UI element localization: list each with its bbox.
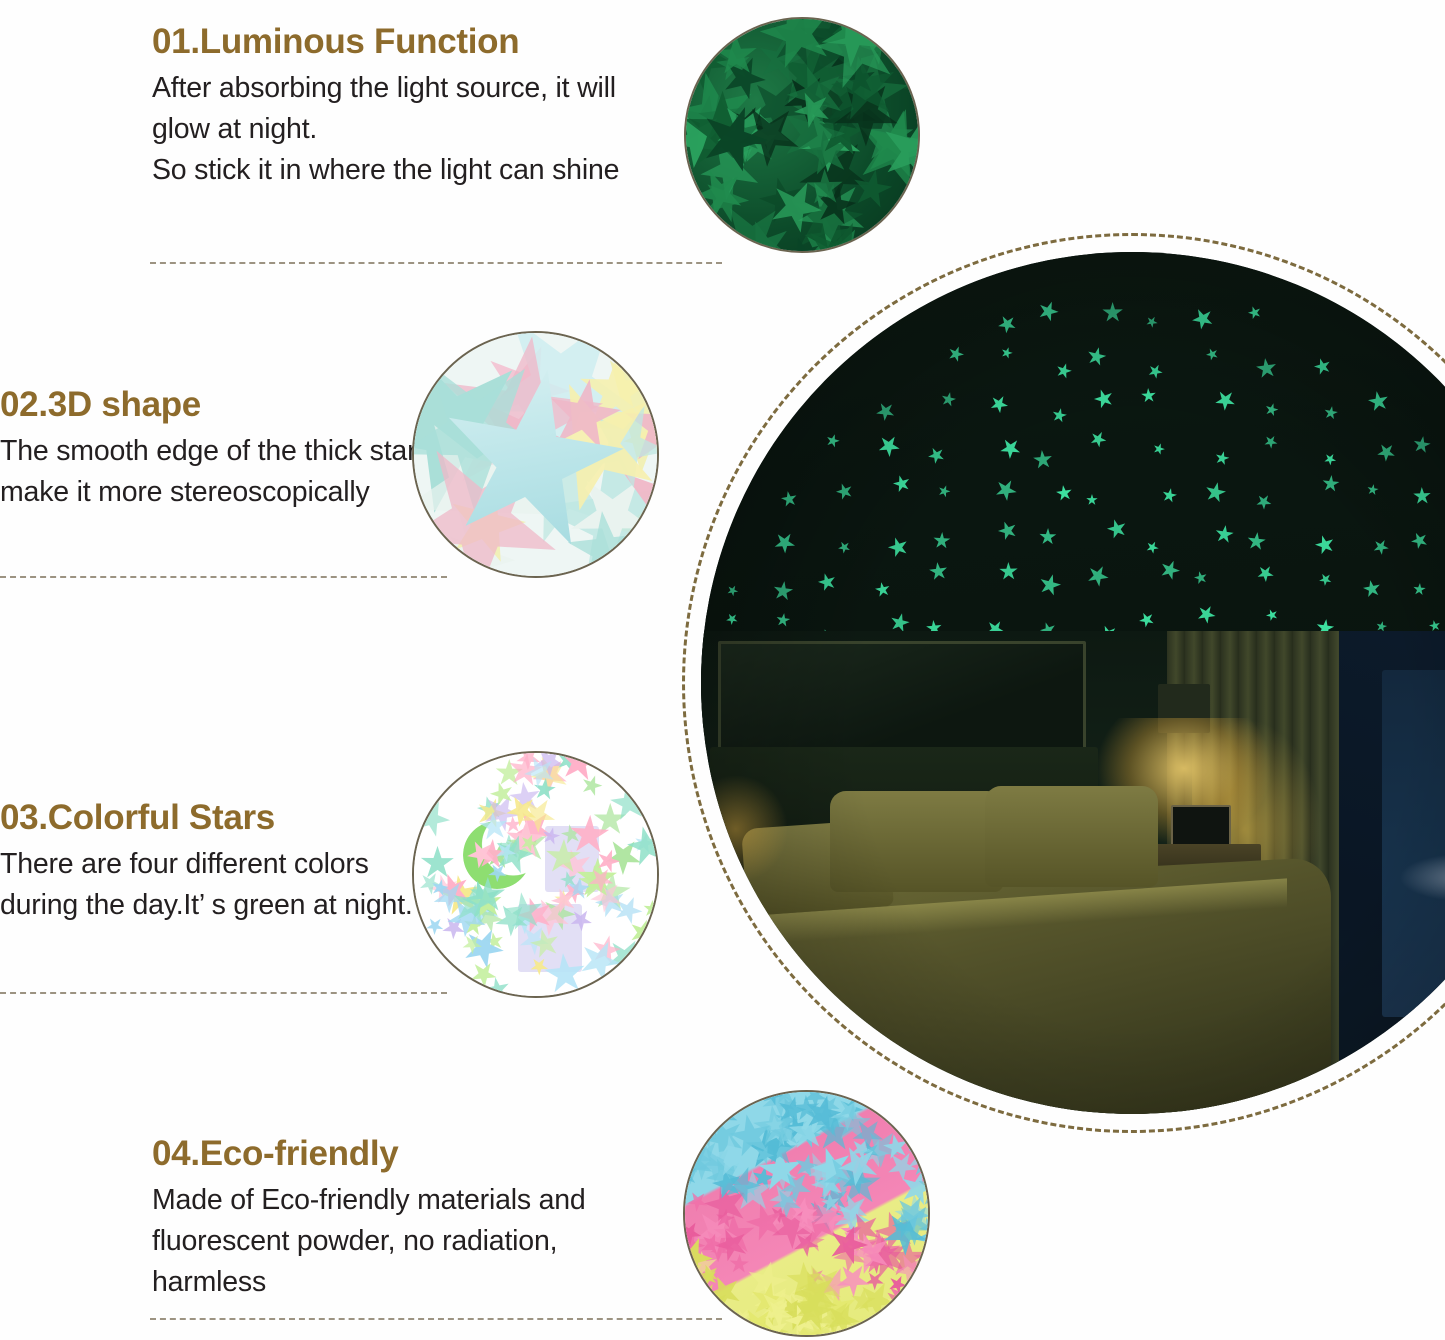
glow-star	[1032, 449, 1053, 470]
glow-star	[874, 581, 892, 599]
pastel-star-piece	[412, 333, 575, 531]
glow-star	[1193, 570, 1209, 586]
sorted-star-piece	[686, 1190, 709, 1213]
glow-star	[996, 434, 1025, 463]
sorted-star-piece	[849, 1286, 877, 1314]
sorted-star-piece	[768, 1203, 790, 1225]
colorful-star-piece	[468, 897, 510, 939]
colorful-star-piece	[608, 782, 651, 825]
crescent-moon-shape	[463, 821, 531, 889]
glowing-green-stars-photo	[686, 19, 918, 251]
pastel-star-piece	[489, 412, 636, 559]
sorted-star-piece	[814, 1146, 874, 1206]
colorful-star-piece	[531, 756, 569, 794]
glow-star	[1408, 529, 1431, 552]
colorful-star-piece	[508, 804, 558, 854]
colorful-star-piece	[589, 871, 632, 914]
colorful-star-piece	[459, 931, 485, 957]
glow-star	[1264, 607, 1280, 623]
colorful-star-piece	[501, 890, 546, 935]
colorful-star-piece	[462, 835, 501, 874]
colorful-star-piece	[425, 871, 461, 907]
sorted-star-piece	[837, 1223, 871, 1257]
colorful-star-piece	[506, 751, 544, 789]
glow-star	[1145, 361, 1165, 381]
sorted-star-piece	[708, 1165, 748, 1205]
glow-star	[1246, 304, 1263, 321]
hero-image-circle	[682, 233, 1445, 1133]
colorful-star-piece	[500, 837, 526, 863]
sorted-star-piece	[790, 1255, 853, 1318]
glow-star-piece	[729, 95, 810, 176]
sorted-star-piece	[805, 1264, 828, 1287]
pastel-star-piece	[563, 475, 659, 578]
glow-star	[1253, 491, 1275, 513]
colorful-star-piece	[588, 866, 614, 892]
glow-star-piece	[824, 71, 907, 154]
glow-star	[1085, 345, 1108, 368]
glow-star	[1246, 531, 1267, 552]
glow-star-piece	[791, 60, 892, 161]
sorted-star-piece	[817, 1181, 852, 1216]
sorted-star-piece	[806, 1161, 831, 1186]
glow-star	[1136, 610, 1157, 631]
sorted-star-piece	[856, 1135, 893, 1172]
sorted-star-piece	[780, 1333, 805, 1337]
colorful-star-piece	[542, 951, 588, 997]
glow-star-piece	[713, 47, 775, 109]
sorted-star-piece	[722, 1166, 761, 1205]
sorted-star-piece	[811, 1164, 850, 1203]
glow-star-piece	[684, 105, 731, 173]
glow-star	[1188, 304, 1217, 333]
glow-star	[1316, 570, 1334, 588]
colorful-star-piece	[556, 751, 601, 784]
glow-star	[873, 431, 903, 461]
colorful-star-piece	[562, 872, 595, 905]
glow-star-piece	[764, 17, 830, 73]
sorted-star-piece	[885, 1185, 930, 1248]
colorful-star-piece	[568, 850, 627, 909]
glow-star	[1255, 356, 1278, 379]
colorful-star-piece	[519, 751, 561, 793]
glow-star-piece	[801, 165, 848, 212]
colorful-star-piece	[591, 844, 625, 878]
colorful-stars-and-moon-photo	[414, 753, 657, 996]
doorway	[1382, 670, 1445, 1018]
sorted-star-piece	[802, 1191, 847, 1236]
sorted-star-piece	[788, 1201, 826, 1239]
glow-star	[1141, 387, 1157, 403]
sorted-star-piece	[833, 1188, 874, 1229]
colorful-star-piece	[511, 751, 546, 775]
sorted-star-piece	[830, 1196, 873, 1239]
glow-star	[770, 528, 800, 558]
glow-star-piece	[840, 59, 880, 99]
infographic-canvas: 01.Luminous Function After absorbing the…	[0, 0, 1445, 1340]
colorful-star-piece	[480, 791, 524, 835]
sorted-star-piece	[859, 1140, 881, 1162]
colorful-star-piece	[500, 813, 525, 838]
glow-star	[925, 444, 948, 467]
glow-star	[1361, 579, 1382, 600]
colorful-star-piece	[432, 867, 488, 923]
colorful-star-piece	[535, 890, 583, 938]
glow-star-piece	[849, 166, 896, 213]
sorted-star-piece	[779, 1255, 829, 1305]
feature-block-04: 04.Eco-friendly Made of Eco-friendly mat…	[152, 1134, 672, 1303]
colorful-star-piece	[462, 870, 514, 922]
feature-image-03	[412, 751, 659, 998]
colorful-star-piece	[540, 826, 562, 848]
sorted-star-piece	[836, 1262, 871, 1297]
sorted-star-piece	[712, 1205, 739, 1232]
colorful-star-piece	[466, 957, 501, 992]
sorted-star-piece	[752, 1282, 804, 1334]
colorful-star-piece	[526, 751, 571, 783]
glow-star	[940, 390, 958, 408]
glow-star	[1088, 428, 1110, 450]
glow-star	[1091, 387, 1116, 412]
glow-star	[890, 473, 911, 494]
glow-star	[1051, 407, 1069, 425]
glow-star-piece	[777, 68, 836, 127]
sorted-star-piece	[733, 1300, 783, 1337]
glow-star-piece	[684, 91, 737, 152]
glow-star-piece	[787, 84, 840, 137]
sorted-star-piece	[768, 1185, 804, 1221]
sorted-star-piece	[887, 1206, 924, 1243]
sorted-star-piece	[781, 1299, 824, 1337]
sorted-star-piece	[888, 1197, 930, 1250]
sorted-star-piece	[766, 1181, 800, 1215]
glow-star	[1214, 524, 1235, 545]
glow-star	[999, 562, 1018, 581]
sorted-star-piece	[708, 1238, 731, 1261]
glow-star-piece	[684, 81, 773, 182]
colorful-star-piece	[449, 882, 495, 928]
colorful-star-piece	[491, 829, 528, 866]
glow-star	[1213, 450, 1230, 467]
colorful-star-piece	[529, 896, 572, 939]
glow-star-piece	[741, 71, 814, 144]
glow-star-piece	[690, 96, 776, 182]
glow-star	[945, 344, 966, 365]
sorted-star-piece	[803, 1331, 826, 1337]
sorted-star-piece	[791, 1277, 829, 1315]
glow-star	[1312, 356, 1333, 377]
colorful-star-piece	[487, 778, 518, 809]
feature-divider-02	[0, 576, 447, 578]
glow-star	[933, 531, 951, 549]
glow-star	[1105, 516, 1130, 541]
colorful-star-piece	[524, 751, 576, 801]
colorful-star-piece	[491, 837, 520, 866]
feature-image-01	[684, 17, 920, 253]
sorted-star-piece	[726, 1251, 752, 1277]
sorted-star-piece	[727, 1155, 744, 1172]
doorway-light	[1399, 853, 1445, 901]
glow-star-piece	[741, 103, 799, 161]
colorful-star-piece	[481, 928, 508, 955]
glow-star-piece	[790, 128, 880, 218]
glow-star	[885, 534, 911, 560]
colorful-star-piece	[504, 776, 548, 820]
colorful-star-piece	[470, 833, 513, 876]
feature-body-02: The smooth edge of the thick star make i…	[0, 431, 440, 513]
glow-star	[1037, 571, 1064, 598]
sorted-star-piece	[864, 1233, 910, 1279]
sorted-star-piece	[791, 1229, 821, 1259]
glow-star	[1083, 561, 1112, 590]
feature-title-02: 02.3D shape	[0, 385, 440, 425]
feature-body-03: There are four different colors during t…	[0, 844, 450, 926]
glow-star	[1204, 346, 1220, 362]
glow-star	[1203, 480, 1228, 505]
feature-divider-01	[150, 262, 722, 264]
glow-star	[1054, 484, 1073, 503]
feature-title-03: 03.Colorful Stars	[0, 798, 450, 838]
colorful-star-piece	[501, 833, 528, 860]
colorful-star-piece	[517, 897, 553, 933]
sorted-star-piece	[740, 1177, 763, 1200]
colorful-star-piece	[529, 774, 559, 804]
sorted-star-piece	[849, 1136, 874, 1161]
glow-star-piece	[767, 89, 858, 180]
sorted-star-piece	[764, 1211, 784, 1231]
colorful-star-piece	[518, 924, 550, 956]
sorted-star-piece	[911, 1162, 930, 1216]
glow-star	[1367, 483, 1380, 496]
colorful-star-piece	[423, 914, 446, 937]
colorful-star-piece	[546, 883, 582, 919]
glow-star-piece	[810, 90, 867, 147]
sorted-star-piece	[791, 1269, 838, 1316]
sorted-star-piece	[810, 1260, 859, 1309]
glow-star	[1157, 557, 1183, 583]
pastel-star-piece	[569, 388, 659, 503]
glow-star	[928, 561, 949, 582]
colorful-star-piece	[586, 796, 633, 843]
glow-star-piece	[695, 135, 765, 205]
glow-star	[1412, 435, 1432, 455]
colorful-star-piece	[416, 842, 460, 886]
wall-mirror	[718, 641, 1086, 758]
sorted-star-piece	[774, 1289, 821, 1336]
glow-star	[1261, 432, 1280, 451]
glow-star	[1321, 475, 1340, 494]
pastel-star-foreground	[424, 353, 638, 567]
glow-star-piece	[857, 106, 920, 185]
bedroom-scene	[701, 631, 1445, 1114]
glow-star	[872, 399, 898, 425]
alarm-clock	[1171, 805, 1231, 848]
glow-star-piece	[691, 164, 749, 222]
colorful-star-piece	[540, 834, 586, 880]
sorted-star-piece	[683, 1232, 718, 1284]
feature-image-02	[412, 331, 659, 578]
colorful-star-piece	[472, 791, 507, 826]
sorted-star-piece	[695, 1222, 740, 1267]
colorful-star-piece	[435, 873, 470, 908]
sorted-star-piece	[778, 1287, 803, 1312]
feature-divider-04	[150, 1318, 722, 1320]
sorted-star-piece	[696, 1173, 758, 1235]
colorful-star-piece	[474, 806, 514, 846]
glow-star	[1370, 536, 1391, 557]
colorful-star-piece	[556, 867, 580, 891]
glow-star	[1412, 583, 1426, 597]
sorted-star-piece	[837, 1217, 864, 1244]
colorful-star-piece	[516, 792, 560, 836]
glow-star	[1374, 440, 1400, 466]
sorted-star-piece	[791, 1297, 822, 1328]
sorted-star-piece	[882, 1133, 911, 1162]
glow-star	[1323, 405, 1339, 421]
sorted-star-piece	[783, 1319, 834, 1337]
glow-star	[1102, 302, 1123, 323]
pillow	[830, 791, 1002, 892]
colorful-star-piece	[574, 862, 616, 904]
sorted-star-piece	[798, 1295, 844, 1337]
colorful-star-piece	[439, 888, 496, 945]
sorted-star-piece	[807, 1162, 851, 1206]
glow-star-piece	[808, 100, 875, 167]
colorful-star-piece	[641, 898, 659, 920]
sorted-star-piece	[835, 1159, 877, 1201]
sorted-star-piece	[744, 1259, 790, 1305]
colorful-star-piece	[494, 902, 530, 938]
glow-star-piece	[872, 108, 920, 193]
glow-star	[779, 490, 798, 509]
sorted-star-piece	[764, 1157, 799, 1192]
feature-title-01: 01.Luminous Function	[152, 22, 664, 62]
glow-star-piece	[718, 97, 775, 154]
glow-star	[1161, 487, 1179, 505]
glow-star	[775, 612, 791, 628]
sorted-star-piece	[853, 1231, 882, 1260]
colorful-star-piece	[483, 975, 512, 998]
sorted-star-piece	[923, 1191, 930, 1230]
glow-star	[1035, 298, 1061, 324]
colorful-star-piece	[568, 906, 595, 933]
colorful-star-piece	[496, 812, 553, 869]
glow-star	[724, 611, 740, 627]
colorful-star-piece	[559, 822, 583, 846]
glow-star	[1039, 528, 1057, 546]
colorful-star-piece	[577, 938, 623, 984]
feature-body-04: Made of Eco-friendly materials and fluor…	[152, 1180, 672, 1302]
sorted-star-piece	[704, 1205, 764, 1265]
feature-block-03: 03.Colorful Stars There are four differe…	[0, 798, 450, 926]
floor-glow	[701, 776, 787, 882]
sorted-star-piece	[820, 1312, 843, 1335]
sorted-star-piece	[827, 1232, 873, 1278]
colorful-star-piece	[480, 836, 519, 875]
colorful-star-piece	[417, 871, 444, 898]
colorful-star-piece	[589, 881, 632, 924]
sorted-star-piece	[760, 1294, 797, 1331]
colorful-star-piece	[519, 833, 538, 852]
sorted-star-piece	[747, 1279, 789, 1321]
sorted-star-piece	[780, 1171, 813, 1204]
glow-star-piece	[697, 170, 754, 227]
glow-star	[987, 392, 1012, 417]
colorful-star-piece	[583, 874, 629, 920]
sorted-star-piece	[747, 1162, 779, 1194]
sorted-star-piece	[887, 1189, 930, 1238]
glow-star-piece	[808, 178, 863, 233]
sorted-star-piece	[849, 1223, 910, 1284]
colorful-star-piece	[460, 924, 508, 972]
sorted-star-piece	[874, 1210, 916, 1252]
sorted-star-piece	[862, 1268, 886, 1292]
glow-star	[1144, 314, 1160, 330]
sorted-star-piece	[750, 1139, 812, 1201]
sorted-star-piece	[699, 1150, 751, 1202]
colorful-star-piece	[577, 771, 607, 801]
colorful-star-piece	[503, 820, 551, 868]
sorted-star-piece	[709, 1222, 755, 1268]
pastel-star-piece	[478, 341, 572, 435]
glow-star	[725, 583, 740, 598]
colorful-star-piece	[552, 887, 576, 911]
sorted-star-piece	[780, 1313, 840, 1337]
sorted-star-piece	[786, 1274, 846, 1334]
sorted-star-piece	[782, 1191, 822, 1231]
colorful-star-piece	[457, 884, 507, 934]
colorful-star-piece	[500, 789, 542, 831]
feature-block-01: 01.Luminous Function After absorbing the…	[152, 22, 664, 191]
sorted-star-piece	[791, 1199, 823, 1231]
glow-star-bedroom-ceiling-photo	[701, 252, 1445, 1114]
sorted-star-piece	[750, 1141, 778, 1169]
glow-star	[991, 475, 1021, 505]
sorted-star-piece	[831, 1156, 887, 1212]
sorted-star-piece	[826, 1307, 850, 1331]
glow-star	[824, 433, 841, 450]
sorted-star-piece	[817, 1189, 845, 1217]
sorted-star-piece	[787, 1191, 852, 1256]
sticker-sheet-lower	[518, 904, 581, 972]
feature-block-02: 02.3D shape The smooth edge of the thick…	[0, 385, 440, 513]
glow-star-piece	[751, 17, 843, 79]
sorted-star-piece	[752, 1281, 795, 1324]
glow-star	[1143, 539, 1160, 556]
glow-star-piece	[729, 115, 786, 172]
glow-star	[1313, 533, 1337, 557]
sorted-star-piece	[789, 1149, 823, 1183]
thick-3d-star-closeup-photo	[414, 333, 657, 576]
glow-star-piece	[813, 17, 902, 93]
sorted-star-piece	[860, 1225, 897, 1262]
pastel-star-piece	[534, 366, 634, 466]
glow-star-piece	[795, 120, 861, 186]
glow-star-piece	[780, 58, 853, 131]
glow-star-piece	[718, 113, 764, 159]
glow-star-piece	[815, 63, 894, 142]
feature-body-01: After absorbing the light source, it wil…	[152, 68, 664, 190]
sorted-star-piece	[844, 1210, 883, 1249]
colorful-star-piece	[426, 873, 473, 920]
glow-star	[936, 483, 952, 499]
sorted-star-piece	[816, 1286, 861, 1331]
glow-star	[834, 481, 856, 503]
glow-star-piece	[704, 90, 784, 170]
sorted-star-piece	[793, 1143, 847, 1197]
sorted-star-piece	[806, 1193, 853, 1240]
sorted-star-piece	[778, 1295, 804, 1321]
